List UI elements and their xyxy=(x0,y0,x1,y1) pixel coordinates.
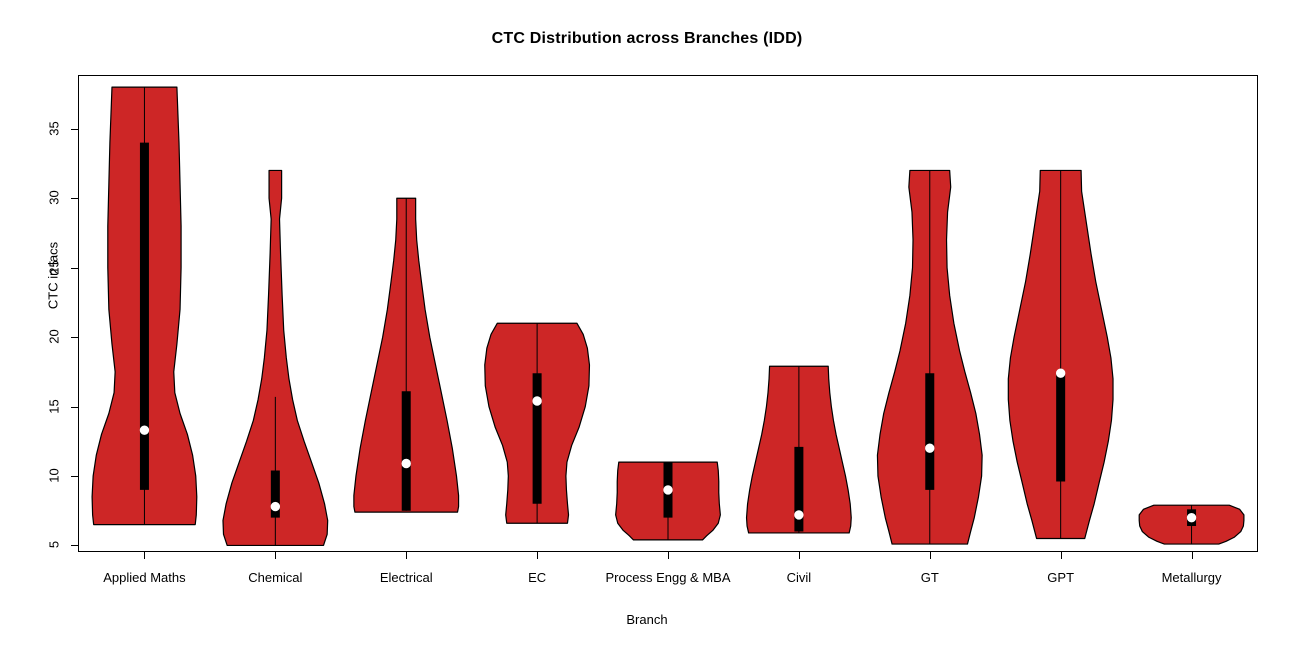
violin-group xyxy=(485,323,590,523)
x-tick-mark xyxy=(1061,552,1062,559)
x-tick-mark xyxy=(406,552,407,559)
x-tick-label: Electrical xyxy=(380,570,433,585)
y-tick-mark xyxy=(71,129,78,130)
y-tick-label: 20 xyxy=(47,320,62,354)
x-tick-label: GT xyxy=(921,570,939,585)
chart-title: CTC Distribution across Branches (IDD) xyxy=(0,30,1294,48)
y-tick-label: 30 xyxy=(47,181,62,215)
y-tick-mark xyxy=(71,268,78,269)
median-marker xyxy=(1056,369,1064,377)
median-marker xyxy=(402,459,410,467)
x-tick-mark xyxy=(799,552,800,559)
x-tick-mark xyxy=(930,552,931,559)
x-axis-title: Branch xyxy=(0,612,1294,627)
y-tick-mark xyxy=(71,545,78,546)
median-marker xyxy=(926,444,934,452)
y-tick-mark xyxy=(71,198,78,199)
y-tick-label: 15 xyxy=(47,389,62,423)
plot-area xyxy=(78,75,1258,552)
y-tick-mark xyxy=(71,407,78,408)
x-tick-mark xyxy=(1192,552,1193,559)
y-tick-label: 35 xyxy=(47,111,62,145)
x-tick-mark xyxy=(144,552,145,559)
violin-plot-svg xyxy=(79,76,1257,551)
x-tick-mark xyxy=(537,552,538,559)
x-tick-mark xyxy=(275,552,276,559)
violin-group xyxy=(877,170,982,544)
median-marker xyxy=(140,426,148,434)
y-tick-label: 5 xyxy=(47,528,62,562)
violin-group xyxy=(747,366,852,533)
median-marker xyxy=(1187,513,1195,521)
y-tick-mark xyxy=(71,337,78,338)
median-marker xyxy=(533,397,541,405)
violin-group xyxy=(354,198,459,512)
violin-group xyxy=(92,87,197,525)
y-tick-mark xyxy=(71,476,78,477)
violin-group xyxy=(616,462,721,540)
y-tick-label: 10 xyxy=(47,459,62,493)
violin-chart-figure: CTC Distribution across Branches (IDD) C… xyxy=(0,0,1294,653)
x-tick-label: Chemical xyxy=(248,570,302,585)
median-marker xyxy=(664,486,672,494)
violin-group xyxy=(1139,505,1244,544)
x-tick-label: EC xyxy=(528,570,546,585)
x-tick-label: GPT xyxy=(1047,570,1074,585)
x-tick-mark xyxy=(668,552,669,559)
median-marker xyxy=(795,511,803,519)
violin-group xyxy=(223,170,328,545)
x-tick-label: Civil xyxy=(787,570,812,585)
median-marker xyxy=(271,502,279,510)
x-tick-label: Applied Maths xyxy=(103,570,185,585)
y-tick-label: 25 xyxy=(47,250,62,284)
x-tick-label: Metallurgy xyxy=(1162,570,1222,585)
violin-group xyxy=(1008,170,1113,538)
x-tick-label: Process Engg & MBA xyxy=(606,570,731,585)
